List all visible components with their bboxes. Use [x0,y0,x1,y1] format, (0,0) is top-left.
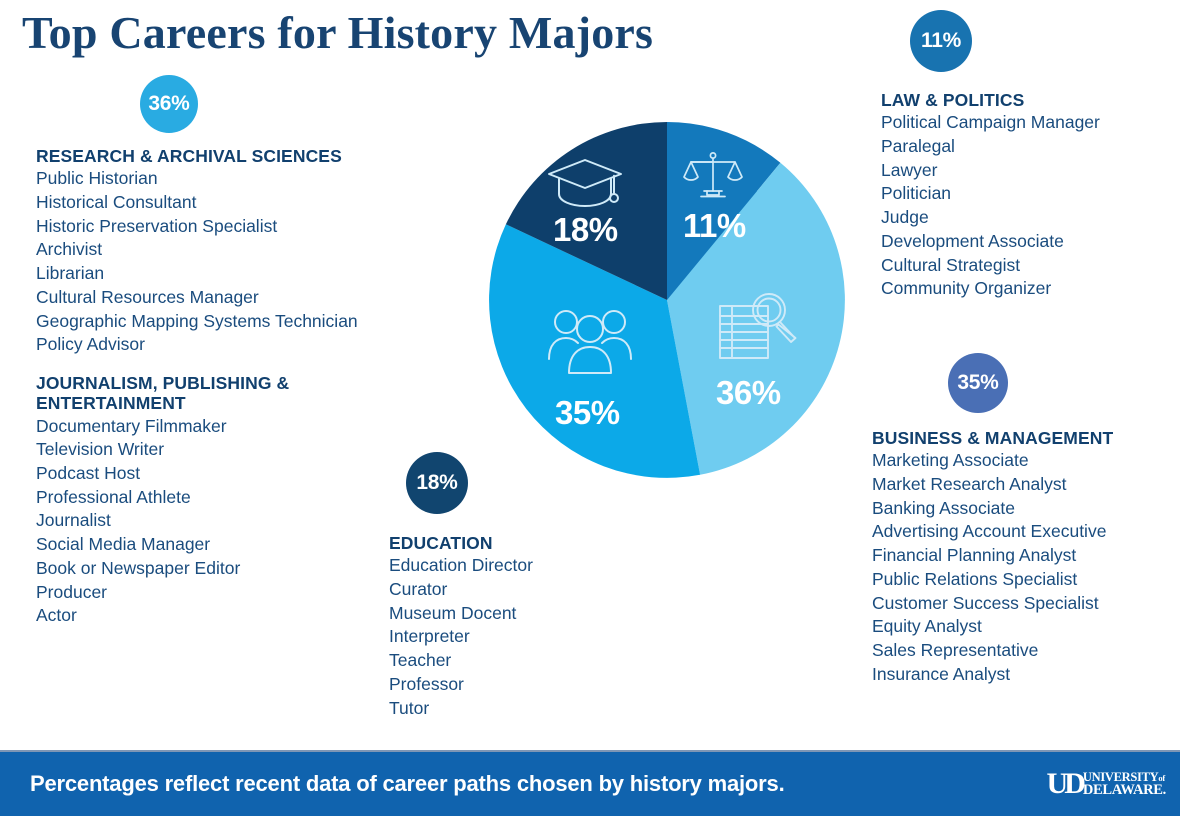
list-item: Financial Planning Analyst [872,544,1172,568]
career-list-business: Marketing Associate Market Research Anal… [872,449,1172,686]
category-heading-journalism: JOURNALISM, PUBLISHING & ENTERTAINMENT [36,373,336,414]
list-item: Librarian [36,262,456,286]
badge-education-label: 18% [416,471,457,495]
list-item: Policy Advisor [36,333,456,357]
list-item: Cultural Resources Manager [36,286,456,310]
badge-business-percent: 35% [948,353,1008,413]
list-item: Social Media Manager [36,533,336,557]
list-item: Museum Docent [389,602,629,626]
list-item: Cultural Strategist [881,254,1171,278]
list-item: Producer [36,581,336,605]
category-heading-research: RESEARCH & ARCHIVAL SCIENCES [36,146,456,166]
ud-delaware-text: DELAWARE. [1083,783,1166,798]
list-item: Sales Representative [872,639,1172,663]
category-block-research: RESEARCH & ARCHIVAL SCIENCES Public Hist… [36,146,456,357]
list-item: Geographic Mapping Systems Technician [36,310,456,334]
list-item: Lawyer [881,159,1171,183]
list-item: Actor [36,604,336,628]
badge-law-percent: 11% [910,10,972,72]
category-block-law: LAW & POLITICS Political Campaign Manage… [881,90,1171,301]
university-of-delaware-logo: UD UNIVERSITYof DELAWARE. [1047,769,1166,799]
list-item: Curator [389,578,629,602]
category-block-business: BUSINESS & MANAGEMENT Marketing Associat… [872,428,1172,686]
list-item: Podcast Host [36,462,336,486]
page-title: Top Careers for History Majors [22,6,653,59]
career-list-research: Public Historian Historical Consultant H… [36,167,456,357]
footer-note: Percentages reflect recent data of caree… [30,771,784,797]
category-heading-business: BUSINESS & MANAGEMENT [872,428,1172,448]
list-item: Development Associate [881,230,1171,254]
badge-research-label: 36% [148,92,189,116]
list-item: Interpreter [389,625,629,649]
pie-chart: 11% 36% 35% 18% [489,122,845,478]
career-list-law: Political Campaign Manager Paralegal Law… [881,111,1171,301]
list-item: Insurance Analyst [872,663,1172,687]
badge-law-label: 11% [921,29,961,53]
list-item: Teacher [389,649,629,673]
list-item: Journalist [36,509,336,533]
infographic-page: Top Careers for History Majors 36% 11% 3… [0,0,1180,816]
list-item: Archivist [36,238,456,262]
list-item: Historical Consultant [36,191,456,215]
list-item: Equity Analyst [872,615,1172,639]
ud-of-text: of [1158,773,1164,783]
list-item: Television Writer [36,438,336,462]
career-list-education: Education Director Curator Museum Docent… [389,554,629,720]
category-heading-law: LAW & POLITICS [881,90,1171,110]
list-item: Historic Preservation Specialist [36,215,456,239]
list-item: Professional Athlete [36,486,336,510]
list-item: Professor [389,673,629,697]
list-item: Political Campaign Manager [881,111,1171,135]
list-item: Education Director [389,554,629,578]
list-item: Paralegal [881,135,1171,159]
badge-research-percent: 36% [140,75,198,133]
list-item: Banking Associate [872,497,1172,521]
list-item: Community Organizer [881,277,1171,301]
footer-banner: Percentages reflect recent data of caree… [0,750,1180,816]
list-item: Politician [881,182,1171,206]
pie-chart-slices [489,122,845,478]
list-item: Customer Success Specialist [872,592,1172,616]
list-item: Public Historian [36,167,456,191]
list-item: Market Research Analyst [872,473,1172,497]
list-item: Judge [881,206,1171,230]
list-item: Documentary Filmmaker [36,415,336,439]
badge-education-percent: 18% [406,452,468,514]
list-item: Book or Newspaper Editor [36,557,336,581]
category-heading-education: EDUCATION [389,533,629,553]
category-block-education: EDUCATION Education Director Curator Mus… [389,533,629,720]
ud-wordmark: UNIVERSITYof DELAWARE. [1083,771,1166,798]
badge-business-label: 35% [957,371,998,395]
list-item: Public Relations Specialist [872,568,1172,592]
career-list-journalism: Documentary Filmmaker Television Writer … [36,415,336,628]
list-item: Advertising Account Executive [872,520,1172,544]
list-item: Marketing Associate [872,449,1172,473]
category-block-journalism: JOURNALISM, PUBLISHING & ENTERTAINMENT D… [36,373,336,628]
list-item: Tutor [389,697,629,721]
ud-monogram: UD [1047,769,1082,799]
